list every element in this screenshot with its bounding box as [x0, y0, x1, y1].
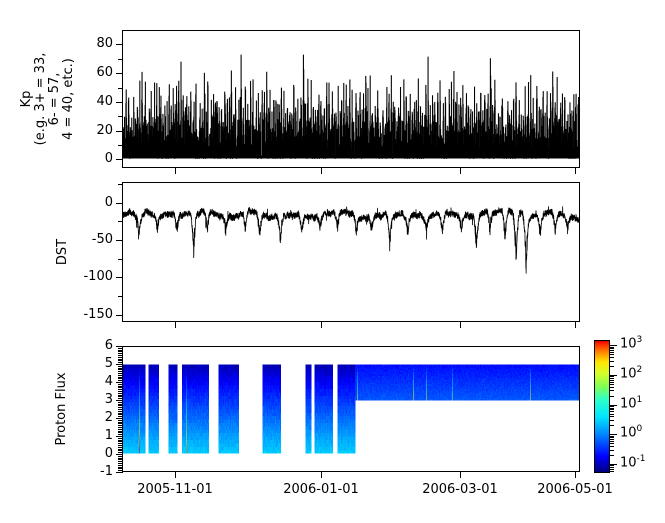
- kp-panel: [122, 30, 580, 168]
- proton-ytick-minor: [118, 452, 123, 453]
- kp-ytick-minor: [118, 116, 123, 117]
- proton-ytick-minor: [118, 382, 123, 383]
- colorbar-tick-minor: [610, 469, 614, 470]
- proton-ytick-minor: [118, 441, 123, 442]
- proton-ytick-minor: [118, 461, 123, 462]
- dst-ytick-minor: [118, 315, 123, 316]
- colorbar-tick-minor: [610, 406, 614, 407]
- colorbar-tick-minor: [610, 465, 614, 466]
- proton-ytick-label: -1: [100, 464, 113, 479]
- colorbar-tick-minor: [610, 350, 614, 351]
- colorbar-tick-minor: [610, 450, 614, 451]
- colorbar-tick-minor: [610, 425, 614, 426]
- proton-ytick-minor: [118, 366, 123, 367]
- proton-ytick-minor: [118, 384, 123, 385]
- kp-ytick-minor: [118, 102, 123, 103]
- proton-ytick-minor: [118, 416, 123, 417]
- colorbar-tick-minor: [610, 354, 614, 355]
- proton-ytick-minor: [118, 468, 123, 469]
- colorbar-tick-minor: [610, 396, 614, 397]
- proton-ytick-minor: [118, 423, 123, 424]
- colorbar-tick-minor: [610, 382, 614, 383]
- proton-ytick-minor: [118, 389, 123, 390]
- kp-ytick-label: 80: [96, 36, 113, 51]
- dst-ytick-minor: [118, 203, 123, 204]
- proton-flux-colorbar: [594, 340, 610, 473]
- kp-ytick-minor: [118, 88, 123, 89]
- proton-ytick-label: 2: [105, 410, 113, 425]
- proton-ytick-minor: [118, 454, 123, 455]
- proton-ytick-minor: [118, 427, 123, 428]
- proton-ytick-minor: [118, 362, 123, 363]
- dst-ytick-minor: [118, 259, 123, 260]
- colorbar-tick-minor: [610, 366, 614, 367]
- proton-ytick-minor: [118, 465, 123, 466]
- dst-ytick-label: -150: [83, 307, 113, 322]
- proton-ytick-minor: [118, 396, 123, 397]
- proton-ytick-minor: [118, 393, 123, 394]
- dst-trace: [123, 206, 579, 273]
- proton-ytick-label: 5: [105, 356, 113, 371]
- kp-axis-label: Kp (e.g. 3+ = 33, 6- = 57, 4 = 40, etc.): [20, 24, 76, 174]
- dst-ytick-minor: [118, 277, 123, 278]
- proton-ytick-minor: [118, 443, 123, 444]
- proton-ytick-minor: [118, 378, 123, 379]
- proton-ytick-minor: [118, 414, 123, 415]
- dst-ytick-label: -100: [83, 269, 113, 284]
- kp-ytick-label: 0: [105, 151, 113, 166]
- proton-ytick-minor: [118, 422, 123, 423]
- colorbar-tick-minor: [610, 471, 614, 472]
- xtick-label: 2005-11-01: [115, 482, 235, 497]
- dst-axis-label: DST: [56, 192, 70, 312]
- dst-xtick: [460, 322, 461, 328]
- proton-ytick-minor: [118, 402, 123, 403]
- dst-ytick-minor: [118, 184, 123, 185]
- colorbar-tick-label: 102: [620, 365, 642, 381]
- colorbar-tick-minor: [610, 420, 614, 421]
- proton-flux-panel: [122, 346, 580, 472]
- proton-ytick-minor: [118, 409, 123, 410]
- colorbar-tick-minor: [610, 411, 614, 412]
- proton-ytick-minor: [118, 458, 123, 459]
- proton-ytick-minor: [118, 377, 123, 378]
- colorbar-tick-minor: [610, 347, 614, 348]
- colorbar-tick-minor: [610, 436, 614, 437]
- dst-panel: [122, 182, 580, 322]
- proton-ytick-minor: [118, 436, 123, 437]
- colorbar-tick-minor: [610, 455, 614, 456]
- proton-ytick-major: [116, 346, 123, 347]
- colorbar-tick-label: 103: [620, 335, 642, 351]
- colorbar-tick-minor: [610, 409, 614, 410]
- dst-ytick-minor: [118, 296, 123, 297]
- kp-ytick-minor: [118, 159, 123, 160]
- proton-ytick-minor: [118, 450, 123, 451]
- proton-ytick-minor: [118, 391, 123, 392]
- kp-ytick-minor: [118, 131, 123, 132]
- proton-flux-cells: [123, 365, 579, 454]
- proton-ytick-minor: [118, 432, 123, 433]
- xtick-label: 2006-01-01: [261, 482, 381, 497]
- colorbar-tick-label: 10-1: [620, 454, 646, 470]
- proton-xtick: [460, 472, 461, 478]
- proton-ytick-minor: [118, 459, 123, 460]
- proton-ytick-minor: [118, 470, 123, 471]
- proton-ytick-minor: [118, 440, 123, 441]
- proton-xtick: [175, 472, 176, 478]
- colorbar-tick-label: 100: [620, 424, 642, 440]
- proton-ytick-minor: [118, 364, 123, 365]
- proton-ytick-minor: [118, 429, 123, 430]
- colorbar-tick-minor: [610, 414, 614, 415]
- proton-ytick-minor: [118, 404, 123, 405]
- dst-xtick: [321, 322, 322, 328]
- proton-ytick-minor: [118, 398, 123, 399]
- kp-ytick-minor: [118, 44, 123, 45]
- colorbar-gradient: [595, 341, 609, 472]
- dst-timeseries-plot: [123, 183, 579, 321]
- dst-ytick-minor: [118, 221, 123, 222]
- colorbar-tick-minor: [610, 441, 614, 442]
- proton-ytick-minor: [118, 359, 123, 360]
- proton-ytick-minor: [118, 445, 123, 446]
- kp-xtick: [321, 168, 322, 174]
- kp-timeseries-plot: [123, 31, 579, 167]
- kp-xtick: [460, 168, 461, 174]
- dst-ytick-label: 0: [105, 195, 113, 210]
- proton-ytick-minor: [118, 400, 123, 401]
- kp-ytick-label: 20: [96, 123, 113, 138]
- colorbar-tick-minor: [610, 416, 614, 417]
- colorbar-tick-minor: [610, 361, 614, 362]
- colorbar-tick-minor: [610, 408, 614, 409]
- proton-ytick-label: 1: [105, 428, 113, 443]
- colorbar-tick-minor: [610, 443, 614, 444]
- proton-ytick-minor: [118, 420, 123, 421]
- proton-ytick-minor: [118, 355, 123, 356]
- proton-ytick-minor: [118, 438, 123, 439]
- proton-ytick-minor: [118, 463, 123, 464]
- proton-ytick-label: 0: [105, 446, 113, 461]
- proton-ytick-label: 3: [105, 392, 113, 407]
- xtick-label: 2006-05-01: [515, 482, 635, 497]
- proton-xtick: [321, 472, 322, 478]
- proton-ytick-minor: [118, 348, 123, 349]
- proton-ytick-minor: [118, 395, 123, 396]
- dst-ytick-label: -50: [92, 232, 113, 247]
- kp-ytick-minor: [118, 59, 123, 60]
- colorbar-tick-minor: [610, 376, 614, 377]
- proton-ytick-minor: [118, 418, 123, 419]
- proton-xtick: [575, 472, 576, 478]
- proton-ytick-minor: [118, 380, 123, 381]
- colorbar-tick-major: [610, 434, 617, 435]
- proton-ytick-label: 6: [105, 338, 113, 353]
- dst-xtick: [575, 322, 576, 328]
- colorbar-tick-minor: [610, 446, 614, 447]
- colorbar-tick-minor: [610, 439, 614, 440]
- colorbar-tick-minor: [610, 357, 614, 358]
- proton-flux-spectrogram: [123, 347, 579, 471]
- colorbar-tick-minor: [610, 390, 614, 391]
- proton-ytick-minor: [118, 369, 123, 370]
- proton-ytick-minor: [118, 371, 123, 372]
- kp-xtick: [175, 168, 176, 174]
- proton-ytick-minor: [118, 411, 123, 412]
- kp-ytick-minor: [118, 145, 123, 146]
- proton-ytick-minor: [118, 413, 123, 414]
- proton-ytick-minor: [118, 387, 123, 388]
- proton-ytick-minor: [118, 425, 123, 426]
- proton-ytick-minor: [118, 351, 123, 352]
- proton-ytick-minor: [118, 467, 123, 468]
- kp-ytick-label: 40: [96, 94, 113, 109]
- proton-ytick-minor: [118, 368, 123, 369]
- proton-ytick-minor: [118, 350, 123, 351]
- proton-flux-dst-kp-figure: Kp (e.g. 3+ = 33, 6- = 57, 4 = 40, etc.)…: [0, 0, 665, 523]
- proton-ytick-minor: [118, 353, 123, 354]
- colorbar-tick-minor: [610, 387, 614, 388]
- colorbar-tick-minor: [610, 467, 614, 468]
- proton-ytick-minor: [118, 360, 123, 361]
- colorbar-tick-major: [610, 345, 617, 346]
- proton-ytick-minor: [118, 407, 123, 408]
- colorbar-tick-minor: [610, 348, 614, 349]
- kp-ytick-minor: [118, 73, 123, 74]
- proton-flux-axis-label: Proton Flux: [55, 349, 69, 469]
- kp-trace: [123, 55, 579, 158]
- colorbar-tick-label: 101: [620, 395, 642, 411]
- dst-ytick-minor: [118, 240, 123, 241]
- kp-xtick: [575, 168, 576, 174]
- proton-ytick-minor: [118, 447, 123, 448]
- proton-ytick-minor: [118, 373, 123, 374]
- colorbar-tick-minor: [610, 378, 614, 379]
- xtick-label: 2006-03-01: [400, 482, 520, 497]
- kp-ytick-label: 60: [96, 65, 113, 80]
- proton-ytick-minor: [118, 431, 123, 432]
- proton-ytick-minor: [118, 434, 123, 435]
- colorbar-tick-minor: [610, 437, 614, 438]
- dst-xtick: [175, 322, 176, 328]
- proton-ytick-minor: [118, 449, 123, 450]
- proton-ytick-minor: [118, 386, 123, 387]
- proton-ytick-minor: [118, 405, 123, 406]
- proton-ytick-label: 4: [105, 374, 113, 389]
- colorbar-tick-minor: [610, 384, 614, 385]
- proton-ytick-minor: [118, 357, 123, 358]
- proton-ytick-minor: [118, 375, 123, 376]
- proton-ytick-minor: [118, 456, 123, 457]
- colorbar-tick-minor: [610, 380, 614, 381]
- proton-ytick-major: [116, 472, 123, 473]
- colorbar-tick-minor: [610, 352, 614, 353]
